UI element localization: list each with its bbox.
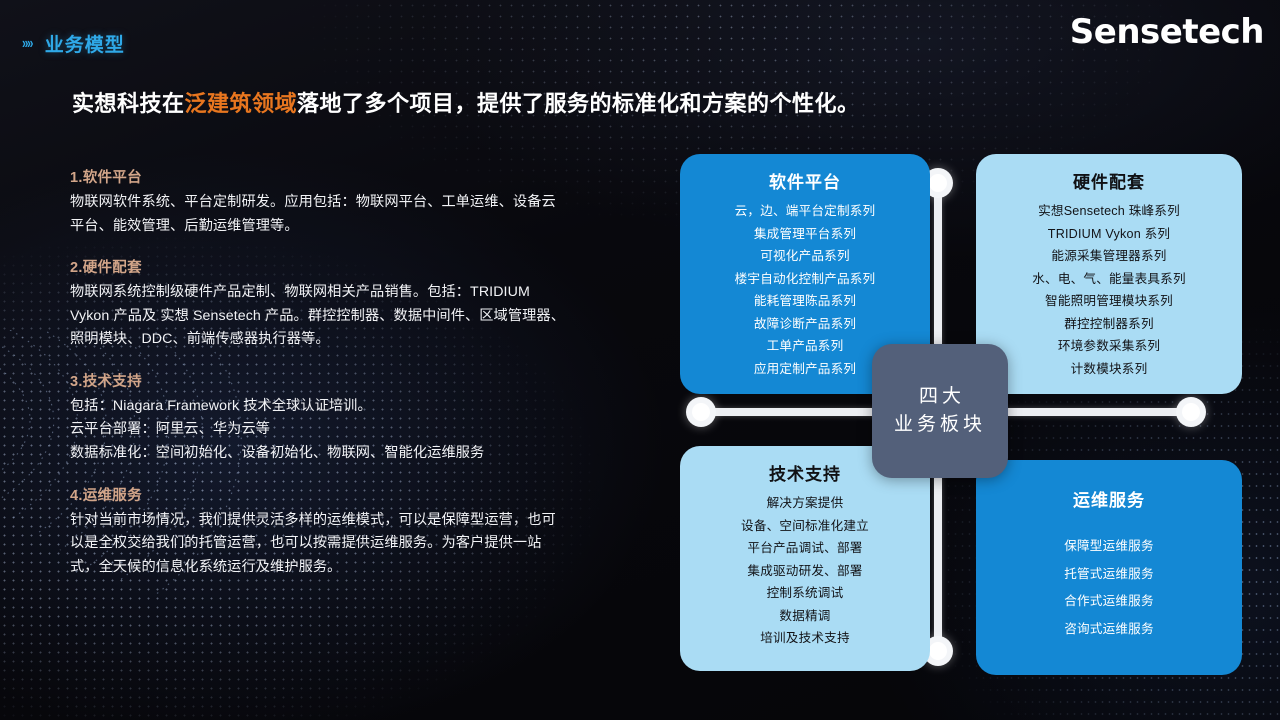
detail-section-title: 2.硬件配套 <box>70 256 570 277</box>
list-item: 云，边、端平台定制系列 <box>735 202 876 222</box>
list-item: 工单产品系列 <box>767 337 844 357</box>
list-item: 水、电、气、能量表具系列 <box>1032 270 1186 290</box>
card-title: 软件平台 <box>769 168 841 193</box>
card-operations-service[interactable]: 运维服务 保障型运维服务 托管式运维服务 合作式运维服务 咨询式运维服务 <box>976 460 1242 675</box>
list-item: 智能照明管理模块系列 <box>1045 292 1173 312</box>
breadcrumb: »» 业务模型 <box>22 30 125 57</box>
list-item: TRIDIUM Vykon 系列 <box>1048 225 1170 245</box>
card-technical-support[interactable]: 技术支持 解决方案提供 设备、空间标准化建立 平台产品调试、部署 集成驱动研发、… <box>680 446 930 671</box>
section-kicker-label: 业务模型 <box>45 30 125 57</box>
list-item: 设备、空间标准化建立 <box>741 517 869 537</box>
list-item: 咨询式运维服务 <box>1064 620 1154 640</box>
page-title: 实想科技在泛建筑领域落地了多个项目，提供了服务的标准化和方案的个性化。 <box>72 86 860 118</box>
card-title: 硬件配套 <box>1073 168 1145 193</box>
card-item-list: 实想Sensetech 珠峰系列 TRIDIUM Vykon 系列 能源采集管理… <box>986 202 1232 379</box>
list-item: 集成管理平台系列 <box>754 225 856 245</box>
business-model-diagram: 软件平台 云，边、端平台定制系列 集成管理平台系列 可视化产品系列 楼宇自动化控… <box>660 140 1260 680</box>
card-hardware-suite[interactable]: 硬件配套 实想Sensetech 珠峰系列 TRIDIUM Vykon 系列 能… <box>976 154 1242 394</box>
list-item: 环境参数采集系列 <box>1058 337 1160 357</box>
list-item: 解决方案提供 <box>767 494 844 514</box>
detail-section-body: 物联网软件系统、平台定制研发。应用包括：物联网平台、工单运维、设备云平台、能效管… <box>70 191 570 238</box>
page-header: »» 业务模型 Sensetech <box>0 0 1280 64</box>
detail-section-body: 物联网系统控制级硬件产品定制、物联网相关产品销售。包括：TRIDIUM Vyko… <box>70 281 570 352</box>
detail-section-title: 4.运维服务 <box>70 484 570 505</box>
hub-line-1: 四大 <box>919 383 965 412</box>
connector-line-right <box>1004 408 1190 416</box>
list-item: 应用定制产品系列 <box>754 360 856 380</box>
card-item-list: 保障型运维服务 托管式运维服务 合作式运维服务 咨询式运维服务 <box>986 537 1232 639</box>
connector-line-left <box>698 408 878 416</box>
list-item: 托管式运维服务 <box>1064 565 1154 585</box>
list-item: 保障型运维服务 <box>1064 537 1154 557</box>
detail-section-title: 1.软件平台 <box>70 166 570 187</box>
page-title-prefix: 实想科技在 <box>72 91 185 116</box>
detail-section-support: 3.技术支持 包括：Niagara Framework 技术全球认证培训。 云平… <box>70 370 570 466</box>
list-item: 计数模块系列 <box>1071 360 1148 380</box>
connector-node-left <box>686 397 716 427</box>
list-item: 能耗管理陈品系列 <box>754 292 856 312</box>
detail-section-title: 3.技术支持 <box>70 370 570 391</box>
connector-line-top <box>934 180 942 360</box>
connector-node-right <box>1176 397 1206 427</box>
list-item: 能源采集管理器系列 <box>1051 247 1166 267</box>
list-item: 故障诊断产品系列 <box>754 315 856 335</box>
detail-section-body: 针对当前市场情况，我们提供灵活多样的运维模式，可以是保障型运营，也可以是全权交给… <box>70 509 570 580</box>
connector-line-bottom <box>934 465 942 650</box>
list-item: 数据精调 <box>779 607 830 627</box>
page-title-highlight: 泛建筑领域 <box>185 91 298 116</box>
detail-section-hardware: 2.硬件配套 物联网系统控制级硬件产品定制、物联网相关产品销售。包括：TRIDI… <box>70 256 570 352</box>
list-item: 群控控制器系列 <box>1064 315 1154 335</box>
detail-section-ops: 4.运维服务 针对当前市场情况，我们提供灵活多样的运维模式，可以是保障型运营，也… <box>70 484 570 580</box>
list-item: 控制系统调试 <box>767 584 844 604</box>
list-item: 平台产品调试、部署 <box>747 539 862 559</box>
card-title: 运维服务 <box>1073 486 1145 511</box>
detail-section-body: 包括：Niagara Framework 技术全球认证培训。 云平台部署：阿里云… <box>70 395 570 466</box>
list-item: 可视化产品系列 <box>760 247 850 267</box>
list-item: 楼宇自动化控制产品系列 <box>735 270 876 290</box>
list-item: 实想Sensetech 珠峰系列 <box>1038 202 1180 222</box>
page-title-suffix: 落地了多个项目，提供了服务的标准化和方案的个性化。 <box>297 91 860 116</box>
diagram-center-hub[interactable]: 四大 业务板块 <box>872 344 1008 478</box>
details-column: 1.软件平台 物联网软件系统、平台定制研发。应用包括：物联网平台、工单运维、设备… <box>70 166 570 579</box>
list-item: 培训及技术支持 <box>760 629 850 649</box>
brand-logo: Sensetech <box>1070 12 1264 52</box>
chevron-right-icon: »» <box>22 36 32 52</box>
hub-line-2: 业务板块 <box>894 411 986 440</box>
list-item: 集成驱动研发、部署 <box>747 562 862 582</box>
list-item: 合作式运维服务 <box>1064 592 1154 612</box>
detail-section-software: 1.软件平台 物联网软件系统、平台定制研发。应用包括：物联网平台、工单运维、设备… <box>70 166 570 238</box>
card-title: 技术支持 <box>769 460 841 485</box>
card-item-list: 解决方案提供 设备、空间标准化建立 平台产品调试、部署 集成驱动研发、部署 控制… <box>690 494 920 649</box>
